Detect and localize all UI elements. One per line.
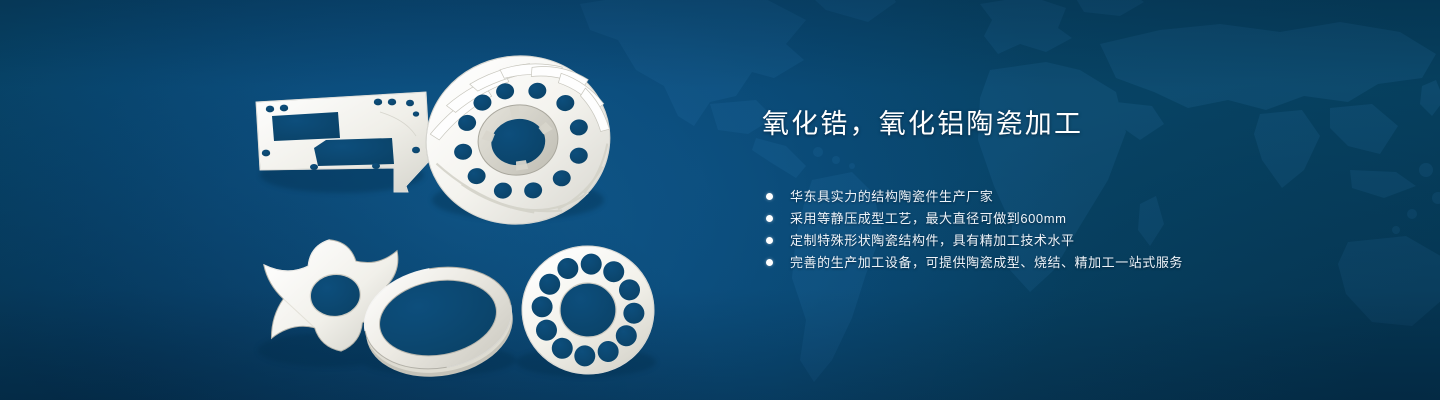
list-item-label: 华东具实力的结构陶瓷件生产厂家 <box>790 189 993 204</box>
list-item-label: 采用等静压成型工艺，最大直径可做到600mm <box>790 211 1066 226</box>
list-item-label: 定制特殊形状陶瓷结构件，具有精加工技术水平 <box>790 233 1075 248</box>
list-item: 华东具实力的结构陶瓷件生产厂家 <box>766 186 1322 208</box>
feature-list: 华东具实力的结构陶瓷件生产厂家 采用等静压成型工艺，最大直径可做到600mm 定… <box>766 186 1322 274</box>
bullet-dot-icon <box>766 237 773 244</box>
list-item: 定制特殊形状陶瓷结构件，具有精加工技术水平 <box>766 230 1322 252</box>
bullet-dot-icon <box>766 193 773 200</box>
list-item: 完善的生产加工设备，可提供陶瓷成型、烧结、精加工一站式服务 <box>766 252 1322 274</box>
bullet-dot-icon <box>766 215 773 222</box>
ceramic-products-image <box>230 40 700 380</box>
list-item: 采用等静压成型工艺，最大直径可做到600mm <box>766 208 1322 230</box>
bullet-dot-icon <box>766 259 773 266</box>
page-title: 氧化锆，氧化铝陶瓷加工 <box>762 108 1322 142</box>
banner-copy: 氧化锆，氧化铝陶瓷加工 华东具实力的结构陶瓷件生产厂家 采用等静压成型工艺，最大… <box>762 108 1322 274</box>
hero-banner: 氧化锆，氧化铝陶瓷加工 华东具实力的结构陶瓷件生产厂家 采用等静压成型工艺，最大… <box>0 0 1440 400</box>
list-item-label: 完善的生产加工设备，可提供陶瓷成型、烧结、精加工一站式服务 <box>790 255 1183 270</box>
